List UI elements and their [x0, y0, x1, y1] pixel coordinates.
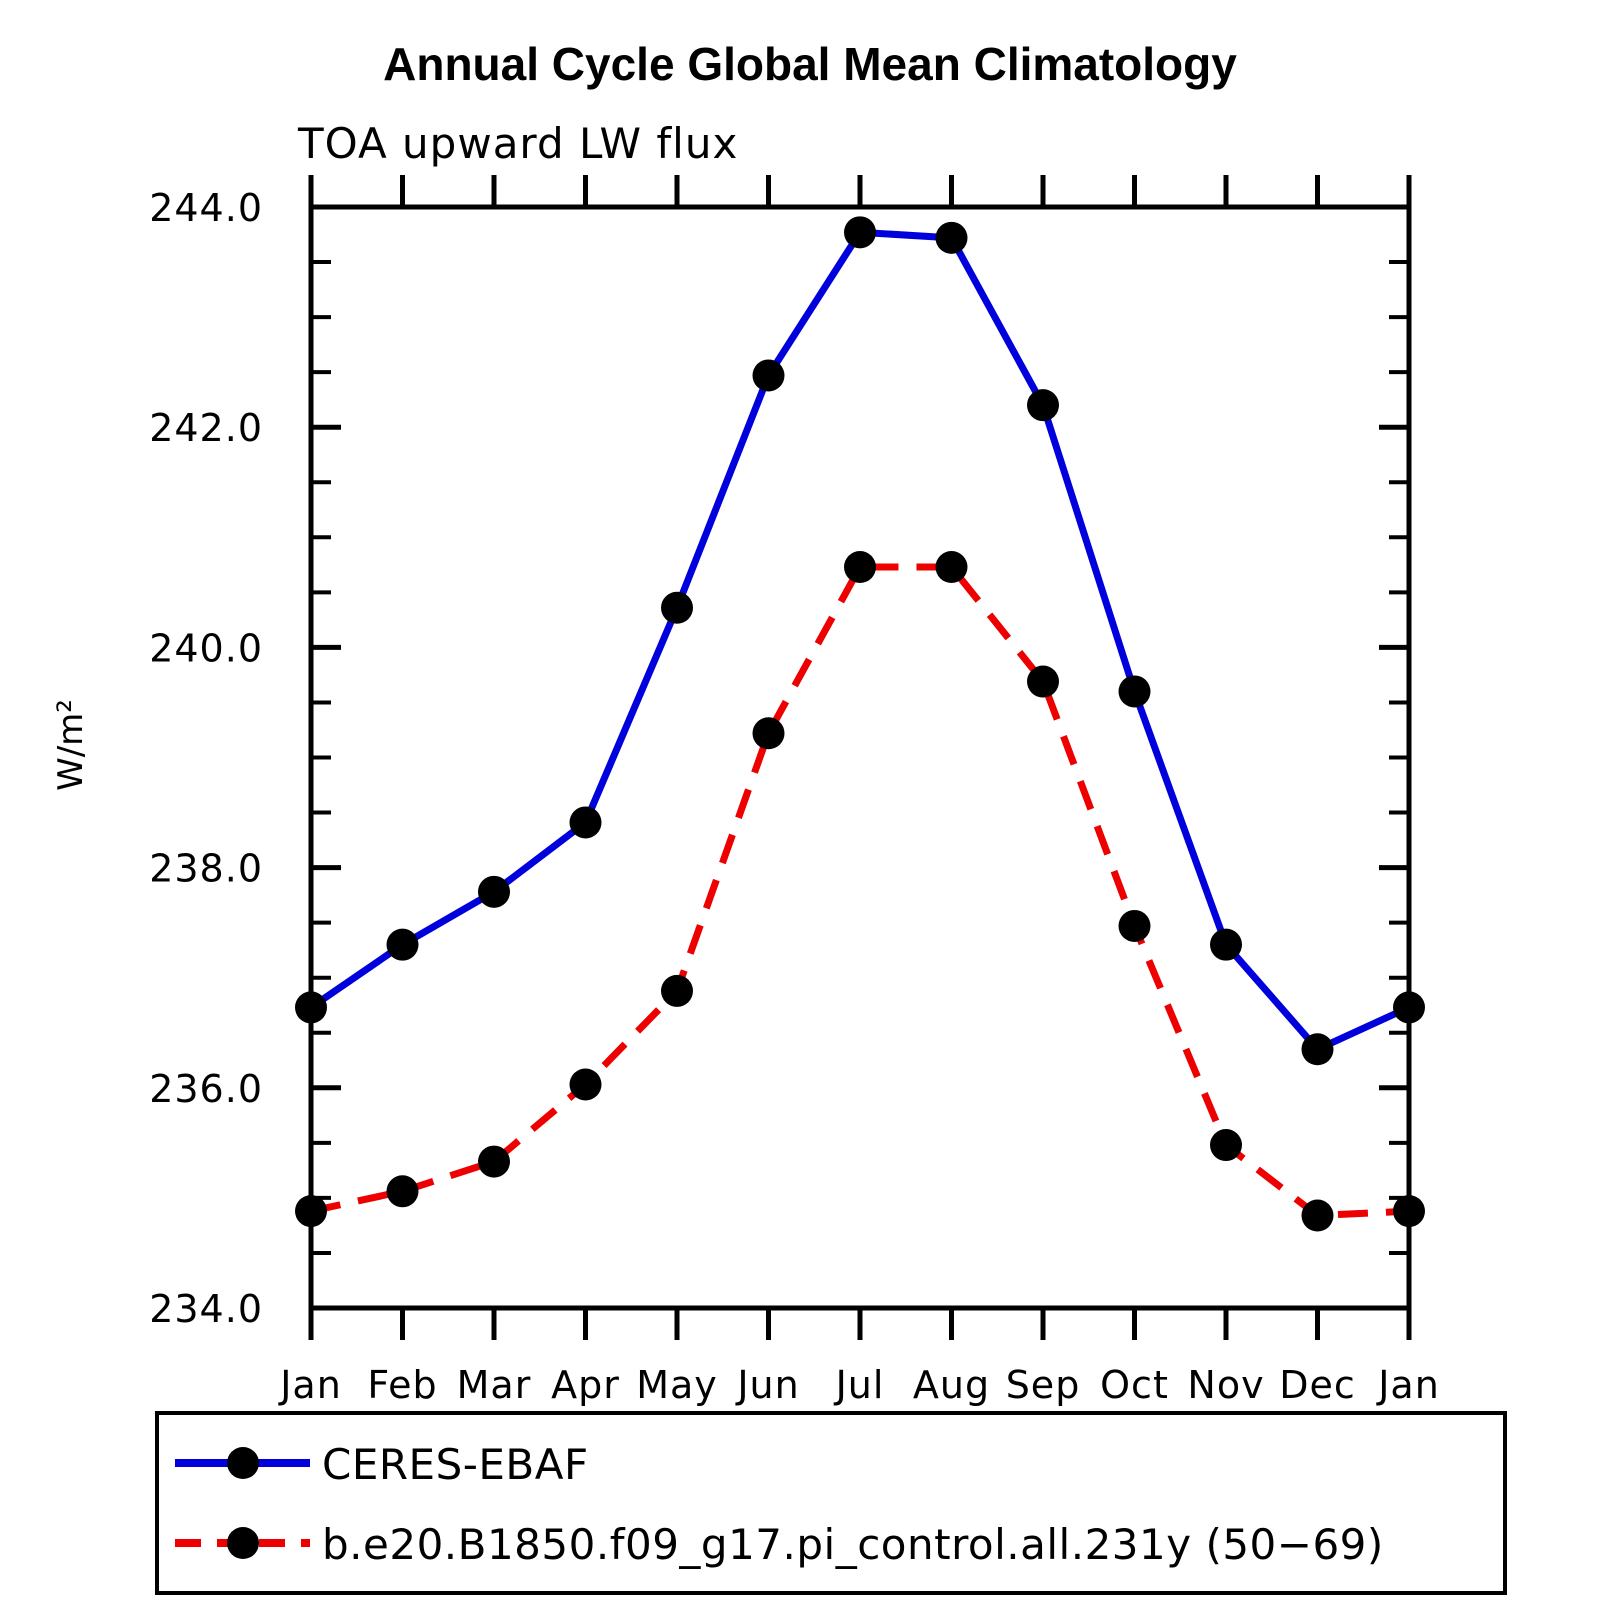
data-point-marker	[661, 975, 693, 1007]
x-tick-label: Feb	[367, 1363, 437, 1407]
data-point-marker	[661, 592, 693, 624]
data-point-marker	[1393, 1195, 1425, 1227]
x-tick-label: Apr	[551, 1363, 620, 1407]
legend-label-0: CERES-EBAF	[322, 1440, 589, 1489]
data-point-marker	[1119, 910, 1151, 942]
data-point-marker	[387, 1175, 419, 1207]
annual-cycle-line-chart: Annual Cycle Global Mean Climatology TOA…	[0, 0, 1619, 1619]
data-point-marker	[478, 876, 510, 908]
x-tick-label: Sep	[1006, 1363, 1081, 1407]
legend-label-1: b.e20.B1850.f09_g17.pi_control.all.231y …	[322, 1520, 1384, 1569]
x-tick-label: Jan	[1376, 1363, 1440, 1407]
y-axis-title: W/m²	[51, 699, 91, 791]
y-tick-label: 238.0	[149, 847, 263, 891]
data-point-marker	[1393, 991, 1425, 1023]
data-point-marker	[753, 717, 785, 749]
y-tick-label: 242.0	[149, 406, 263, 450]
x-tick-label: Jun	[735, 1363, 799, 1407]
x-tick-label: Nov	[1187, 1363, 1264, 1407]
data-point-marker	[936, 551, 968, 583]
data-point-marker	[1302, 1033, 1334, 1065]
data-point-marker	[1210, 929, 1242, 961]
data-point-marker	[1119, 675, 1151, 707]
x-tick-label: Jan	[278, 1363, 342, 1407]
x-tick-label: Dec	[1279, 1363, 1356, 1407]
data-point-marker	[1027, 389, 1059, 421]
x-tick-label: Oct	[1100, 1363, 1169, 1407]
y-tick-label: 236.0	[149, 1067, 263, 1111]
y-tick-label: 234.0	[149, 1287, 263, 1331]
data-point-marker	[753, 359, 785, 391]
data-point-marker	[1027, 666, 1059, 698]
chart-title: Annual Cycle Global Mean Climatology	[383, 38, 1237, 90]
data-point-marker	[844, 551, 876, 583]
data-point-marker	[844, 216, 876, 248]
x-tick-label: Jul	[834, 1363, 885, 1407]
data-point-marker	[1210, 1129, 1242, 1161]
legend-marker-0	[227, 1447, 259, 1479]
x-tick-label: Mar	[457, 1363, 532, 1407]
x-tick-label: May	[636, 1363, 718, 1407]
data-point-marker	[936, 222, 968, 254]
data-point-marker	[387, 929, 419, 961]
y-tick-label: 240.0	[149, 626, 263, 670]
x-tick-label: Aug	[913, 1363, 990, 1407]
figure-background	[0, 0, 1619, 1619]
data-point-marker	[295, 991, 327, 1023]
chart-subtitle: TOA upward LW flux	[297, 119, 738, 168]
data-point-marker	[570, 806, 602, 838]
y-axis-title-group: W/m²	[51, 699, 91, 791]
data-point-marker	[1302, 1200, 1334, 1232]
legend-marker-1	[227, 1527, 259, 1559]
y-tick-label: 244.0	[149, 186, 263, 230]
data-point-marker	[478, 1146, 510, 1178]
chart-page: Annual Cycle Global Mean Climatology TOA…	[0, 0, 1619, 1619]
data-point-marker	[570, 1068, 602, 1100]
data-point-marker	[295, 1195, 327, 1227]
